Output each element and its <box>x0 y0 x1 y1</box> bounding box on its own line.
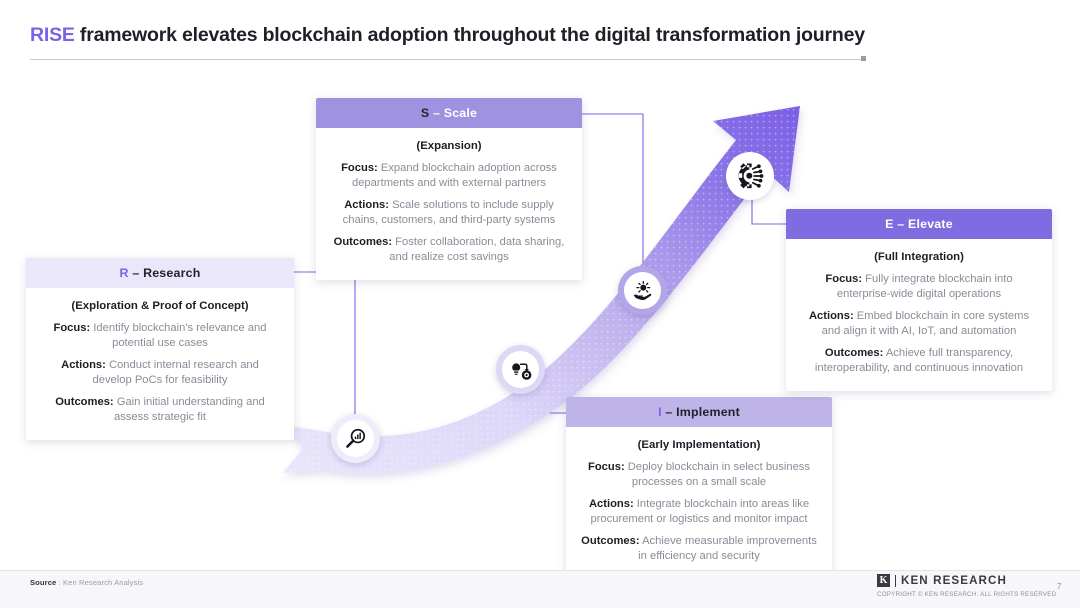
focus-text: Deploy blockchain in select business pro… <box>625 461 810 488</box>
stage-subtitle-elevate: (Full Integration) <box>800 251 1038 263</box>
stage-name-research: Research <box>143 266 200 280</box>
brand-divider <box>895 575 896 587</box>
connector-scale <box>582 114 643 272</box>
brand-name: KEN RESEARCH <box>901 574 1007 587</box>
brand-logo: K KEN RESEARCH <box>877 574 1007 587</box>
focus-text: Expand blockchain adoption across depart… <box>352 162 557 189</box>
slide: RISE framework elevates blockchain adopt… <box>0 0 1080 608</box>
stage-card-elevate[interactable]: E – Elevate (Full Integration) Focus: Fu… <box>786 209 1052 391</box>
stage-letter-elevate: E <box>885 217 893 231</box>
stage-subtitle-scale: (Expansion) <box>330 140 568 152</box>
milestone-node-scale[interactable] <box>618 266 667 315</box>
focus-label: Focus: <box>825 273 862 285</box>
gear-circuit-icon <box>736 162 764 190</box>
stage-header-research: R – Research <box>26 258 294 288</box>
stage-body-elevate: (Full Integration) Focus: Fully integrat… <box>786 239 1052 391</box>
stage-outcomes-implement: Outcomes: Achieve measurable improvement… <box>580 534 818 563</box>
outcomes-label: Outcomes: <box>581 535 639 547</box>
stage-header-scale: S – Scale <box>316 98 582 128</box>
stage-dash-research: – <box>129 266 143 280</box>
outcomes-text: Gain initial understanding and assess st… <box>114 396 265 423</box>
stage-focus-research: Focus: Identify blockchain's relevance a… <box>40 321 280 350</box>
actions-label: Actions: <box>589 498 634 510</box>
stage-body-implement: (Early Implementation) Focus: Deploy blo… <box>566 427 832 579</box>
focus-label: Focus: <box>588 461 625 473</box>
outcomes-label: Outcomes: <box>825 347 883 359</box>
ken-research-mark-icon: K <box>877 574 890 587</box>
focus-text: Identify blockchain's relevance and pote… <box>90 322 266 349</box>
stage-outcomes-elevate: Outcomes: Achieve full transparency, int… <box>800 346 1038 375</box>
stage-focus-elevate: Focus: Fully integrate blockchain into e… <box>800 272 1038 301</box>
stage-card-research[interactable]: R – Research (Exploration & Proof of Con… <box>26 258 294 440</box>
stage-body-research: (Exploration & Proof of Concept) Focus: … <box>26 288 294 440</box>
connector-research <box>294 272 355 418</box>
source-note: Source : Ken Research Analysis <box>30 578 143 587</box>
stage-header-implement: I – Implement <box>566 397 832 427</box>
milestone-node-elevate[interactable] <box>726 152 774 200</box>
stage-actions-scale: Actions: Scale solutions to include supp… <box>330 198 568 227</box>
stage-letter-research: R <box>120 266 129 280</box>
stage-body-scale: (Expansion) Focus: Expand blockchain ado… <box>316 128 582 280</box>
stage-name-elevate: Elevate <box>908 217 953 231</box>
actions-label: Actions: <box>61 359 106 371</box>
stage-dash-elevate: – <box>894 217 908 231</box>
outcomes-text: Achieve measurable improvements in effic… <box>638 535 817 562</box>
stage-actions-implement: Actions: Integrate blockchain into areas… <box>580 497 818 526</box>
lightbulb-gear-icon <box>509 358 533 382</box>
stage-name-implement: Implement <box>676 405 740 419</box>
actions-label: Actions: <box>809 310 854 322</box>
stage-actions-elevate: Actions: Embed blockchain in core system… <box>800 309 1038 338</box>
page-number: 7 <box>1057 582 1061 591</box>
actions-label: Actions: <box>344 199 389 211</box>
outcomes-text: Foster collaboration, data sharing, and … <box>389 236 564 263</box>
stage-card-implement[interactable]: I – Implement (Early Implementation) Foc… <box>566 397 832 579</box>
magnifier-bar-chart-icon <box>344 427 367 450</box>
stage-header-elevate: E – Elevate <box>786 209 1052 239</box>
focus-label: Focus: <box>54 322 91 334</box>
stage-card-scale[interactable]: S – Scale (Expansion) Focus: Expand bloc… <box>316 98 582 280</box>
source-label: Source <box>30 578 56 587</box>
focus-label: Focus: <box>341 162 378 174</box>
stage-outcomes-research: Outcomes: Gain initial understanding and… <box>40 395 280 424</box>
stage-subtitle-implement: (Early Implementation) <box>580 439 818 451</box>
stage-dash-scale: – <box>429 106 443 120</box>
actions-text: Conduct internal research and develop Po… <box>93 359 259 386</box>
hand-shine-icon <box>631 279 655 303</box>
focus-text: Fully integrate blockchain into enterpri… <box>837 273 1013 300</box>
outcomes-label: Outcomes: <box>55 396 113 408</box>
stage-focus-implement: Focus: Deploy blockchain in select busin… <box>580 460 818 489</box>
actions-text: Embed blockchain in core systems and ali… <box>822 310 1029 337</box>
stage-actions-research: Actions: Conduct internal research and d… <box>40 358 280 387</box>
stage-focus-scale: Focus: Expand blockchain adoption across… <box>330 161 568 190</box>
copyright-text: COPYRIGHT © KEN RESEARCH. ALL RIGHTS RES… <box>877 591 1056 598</box>
stage-outcomes-scale: Outcomes: Foster collaboration, data sha… <box>330 235 568 264</box>
stage-subtitle-research: (Exploration & Proof of Concept) <box>40 300 280 312</box>
source-text: : Ken Research Analysis <box>56 578 143 587</box>
stage-name-scale: Scale <box>444 106 477 120</box>
milestone-node-research[interactable] <box>331 414 380 463</box>
milestone-node-implement[interactable] <box>496 345 545 394</box>
outcomes-label: Outcomes: <box>334 236 392 248</box>
stage-dash-implement: – <box>662 405 676 419</box>
